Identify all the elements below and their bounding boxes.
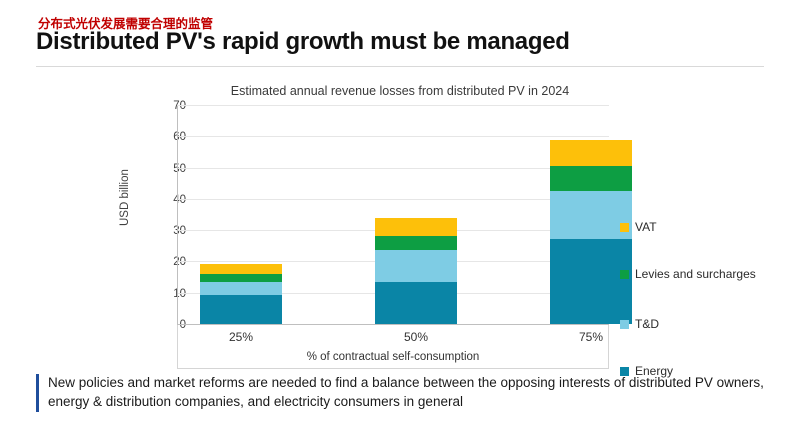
bar-segment <box>375 282 457 324</box>
legend-item[interactable]: Levies and surcharges <box>620 267 790 281</box>
x-axis-tick-label: 50% <box>356 330 476 344</box>
legend-label: VAT <box>635 220 657 234</box>
gridline <box>177 105 609 106</box>
slide: 分布式光伏发展需要合理的监管 Distributed PV's rapid gr… <box>0 0 800 424</box>
page-title: Distributed PV's rapid growth must be ma… <box>36 28 570 56</box>
x-axis-title: % of contractual self-consumption <box>177 351 609 363</box>
bar-segment <box>550 239 632 324</box>
bar-segment <box>200 274 282 282</box>
legend-item[interactable]: T&D <box>620 317 790 331</box>
bar-segment <box>200 282 282 295</box>
y-axis-line <box>177 106 178 325</box>
plot-area <box>177 106 609 325</box>
bar-25pct <box>200 264 282 324</box>
bar-segment <box>375 236 457 251</box>
callout-text: New policies and market reforms are need… <box>48 374 766 411</box>
bar-segment <box>375 218 457 236</box>
bar-segment <box>550 140 632 166</box>
x-axis-tick-label: 75% <box>531 330 651 344</box>
bar-50pct <box>375 218 457 324</box>
gridline <box>177 136 609 137</box>
bar-segment <box>200 295 282 324</box>
legend-swatch <box>620 270 629 279</box>
bar-segment <box>200 264 282 274</box>
gridline <box>177 199 609 200</box>
legend-item[interactable]: VAT <box>620 220 790 234</box>
legend-label: Levies and surcharges <box>635 267 756 281</box>
legend-label: T&D <box>635 317 659 331</box>
header-divider <box>36 66 764 67</box>
bar-segment <box>375 250 457 282</box>
footer-callout: New policies and market reforms are need… <box>36 374 766 412</box>
x-axis-tick-label: 25% <box>181 330 301 344</box>
gridline <box>177 168 609 169</box>
callout-accent-bar <box>36 374 39 412</box>
y-axis-title: USD billion <box>119 169 131 226</box>
legend-swatch <box>620 320 629 329</box>
x-axis-line <box>177 324 609 325</box>
bar-segment <box>550 166 632 192</box>
chart-container: Estimated annual revenue losses from dis… <box>0 74 800 364</box>
legend-swatch <box>620 223 629 232</box>
chart-title: Estimated annual revenue losses from dis… <box>180 84 620 98</box>
